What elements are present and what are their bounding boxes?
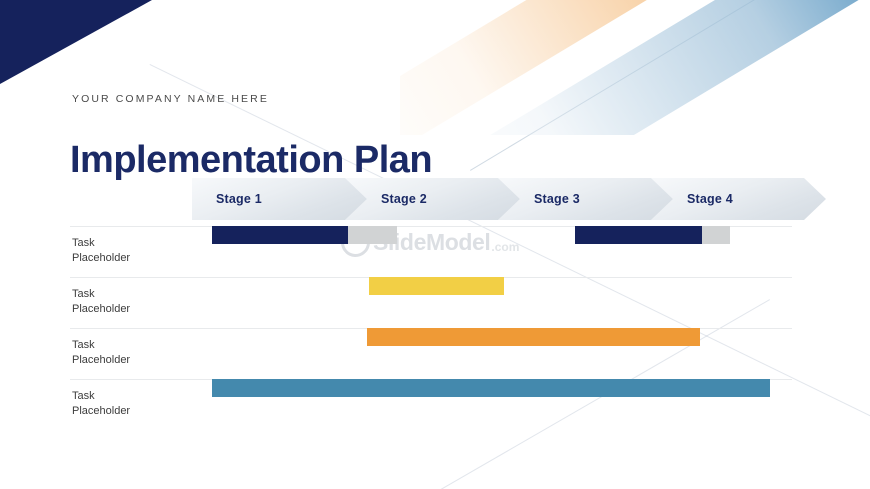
navy-corner-triangle [0, 0, 152, 84]
gantt-row: Task Placeholder [0, 379, 870, 430]
slide-canvas: YOUR COMPANY NAME HERE Implementation Pl… [0, 0, 870, 489]
stage-header-row: Stage 1Stage 2Stage 3Stage 4 [190, 178, 826, 220]
task-label: Task Placeholder [72, 338, 192, 367]
gantt-bar-segment-a-remaining[interactable] [348, 226, 397, 244]
stage-chevron-label: Stage 4 [687, 192, 733, 206]
gantt-bar-segment-a-progress[interactable] [212, 226, 348, 244]
company-name-eyebrow: YOUR COMPANY NAME HERE [72, 93, 269, 105]
gantt-bar-segment-b-remaining[interactable] [702, 226, 730, 244]
stage-chevron-label: Stage 3 [534, 192, 580, 206]
gantt-bar-segment-progress[interactable] [212, 379, 770, 397]
gantt-rows: Task PlaceholderTask PlaceholderTask Pla… [0, 226, 870, 430]
stage-chevron-label: Stage 2 [381, 192, 427, 206]
stage-chevron-label: Stage 1 [216, 192, 262, 206]
top-right-gradient-decoration [400, 0, 870, 135]
stage-chevron-2[interactable]: Stage 2 [345, 178, 520, 220]
gantt-bar-segment-b-progress[interactable] [575, 226, 702, 244]
stage-chevron-3[interactable]: Stage 3 [498, 178, 673, 220]
gantt-row: Task Placeholder [0, 277, 870, 328]
gantt-bar-segment-progress[interactable] [367, 328, 700, 346]
task-label: Task Placeholder [72, 236, 192, 265]
gantt-row: Task Placeholder [0, 226, 870, 277]
task-label: Task Placeholder [72, 287, 192, 316]
stage-chevron-4[interactable]: Stage 4 [651, 178, 826, 220]
gantt-row: Task Placeholder [0, 328, 870, 379]
stage-chevron-1[interactable]: Stage 1 [192, 178, 367, 220]
task-label: Task Placeholder [72, 389, 192, 418]
gantt-bar-segment-progress[interactable] [369, 277, 504, 295]
page-title: Implementation Plan [70, 139, 432, 182]
